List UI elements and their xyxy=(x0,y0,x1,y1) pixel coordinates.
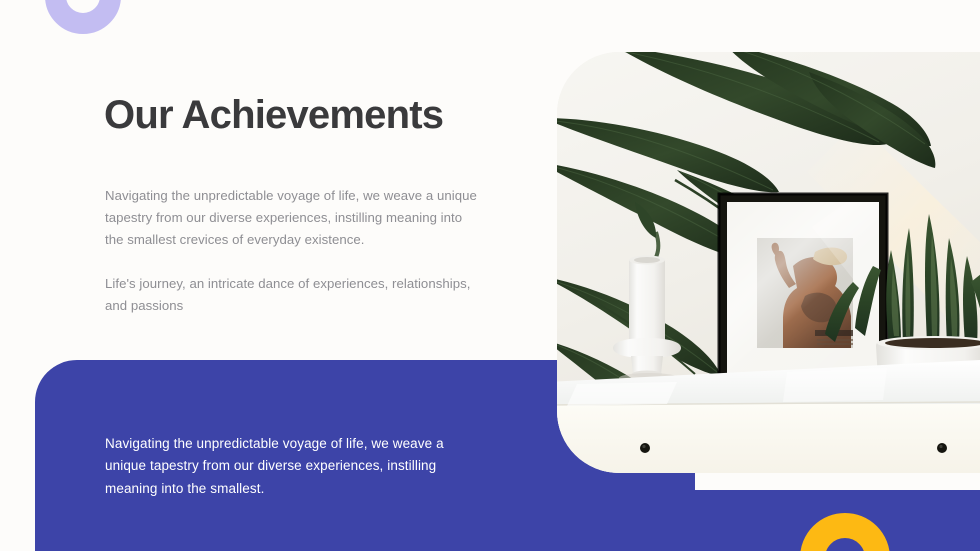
purple-ring-icon xyxy=(45,0,121,34)
slide-our-achievements: Our Achievements Navigating the unpredic… xyxy=(0,0,980,551)
page-title: Our Achievements xyxy=(104,93,443,138)
body-paragraph-primary: Navigating the unpredictable voyage of l… xyxy=(105,185,477,250)
interior-photo xyxy=(557,52,980,473)
blue-panel-text: Navigating the unpredictable voyage of l… xyxy=(105,433,485,501)
interior-photo-artwork xyxy=(557,52,980,473)
shelf-knob-left xyxy=(640,443,650,453)
shelf-knob-right xyxy=(937,443,947,453)
photo-alt-text: Interior shelf styled with a framed art … xyxy=(0,0,1,1)
body-paragraph-secondary: Life's journey, an intricate dance of ex… xyxy=(105,273,477,317)
